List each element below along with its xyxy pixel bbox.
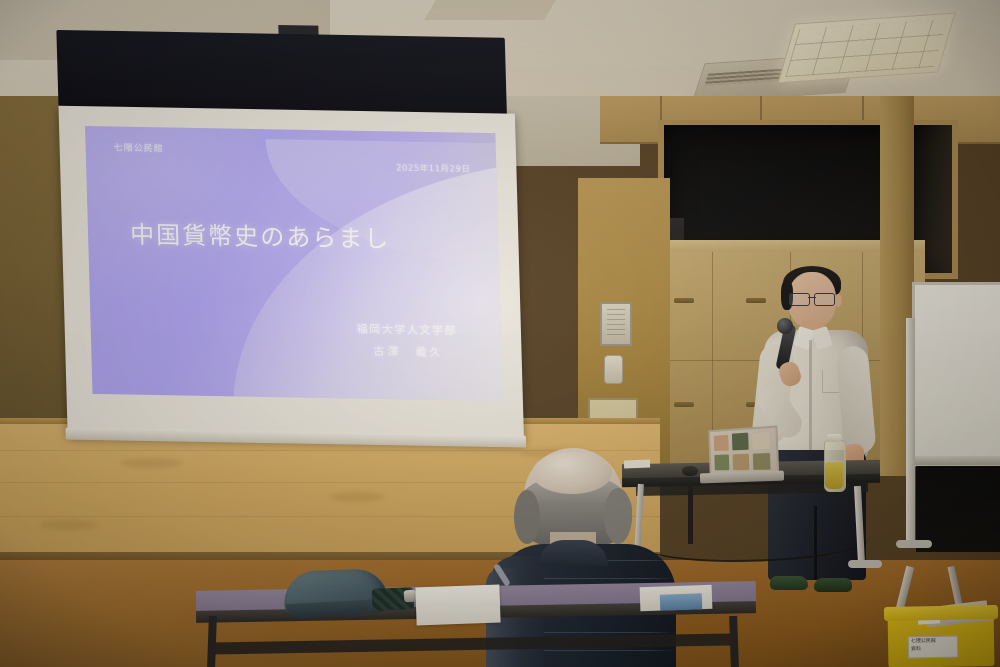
- bottle-cap-icon: [827, 434, 841, 442]
- whiteboard-stand-post: [906, 318, 915, 548]
- audience-hair-left: [514, 490, 540, 544]
- lecture-room-photo: 七隈公民館 2025年11月29日 中国貨幣史のあらまし 福岡大学人文学部 古澤…: [0, 0, 1000, 667]
- slide-title: 中国貨幣史のあらまし: [130, 215, 391, 255]
- slide-author: 古澤 義久: [373, 343, 444, 360]
- table-foot: [848, 560, 882, 568]
- whiteboard-icon[interactable]: [912, 282, 1000, 466]
- blue-booklet: [660, 593, 703, 610]
- ceiling-light-panel-icon: [777, 13, 955, 84]
- whiteboard-stand-foot: [896, 540, 932, 548]
- audience-scalp: [532, 452, 612, 494]
- projected-slide: 七隈公民館 2025年11月29日 中国貨幣史のあらまし 福岡大学人文学部 古澤…: [85, 126, 503, 401]
- whiteboard-marker-tray[interactable]: [906, 456, 1000, 465]
- presenter-shoe-right: [814, 578, 852, 592]
- presenter-shoe-left: [770, 576, 808, 590]
- crate-label: 七隈公民館 資料: [908, 636, 958, 659]
- handout-papers: [415, 585, 500, 626]
- projection-screen-icon: 七隈公民館 2025年11月29日 中国貨幣史のあらまし 福岡大学人文学部 古澤…: [29, 27, 526, 430]
- desk-leg: [729, 616, 739, 667]
- crate-label-line2: 資料: [911, 645, 955, 653]
- crate-rim: [884, 605, 998, 621]
- slide-affiliation: 福岡大学人文学部: [357, 321, 458, 339]
- ceiling-trim-strip: [424, 0, 556, 20]
- cabinet-handle[interactable]: [674, 298, 694, 303]
- pouch-clasp-icon: [404, 590, 417, 603]
- audience-hair-right: [604, 488, 632, 544]
- microphone-head-icon: [777, 318, 793, 334]
- cabinet-handle[interactable]: [674, 402, 694, 407]
- glasses-icon: [788, 293, 836, 304]
- wall-control-panel-icon[interactable]: [600, 302, 632, 346]
- slide-venue-label: 七隈公民館: [113, 140, 163, 154]
- slide-date-label: 2025年11月29日: [396, 161, 471, 174]
- intercom-icon[interactable]: [604, 355, 623, 384]
- presenter-shirt-placket: [809, 340, 812, 452]
- audience-member: [452, 440, 692, 667]
- bottle-contents: [825, 462, 843, 489]
